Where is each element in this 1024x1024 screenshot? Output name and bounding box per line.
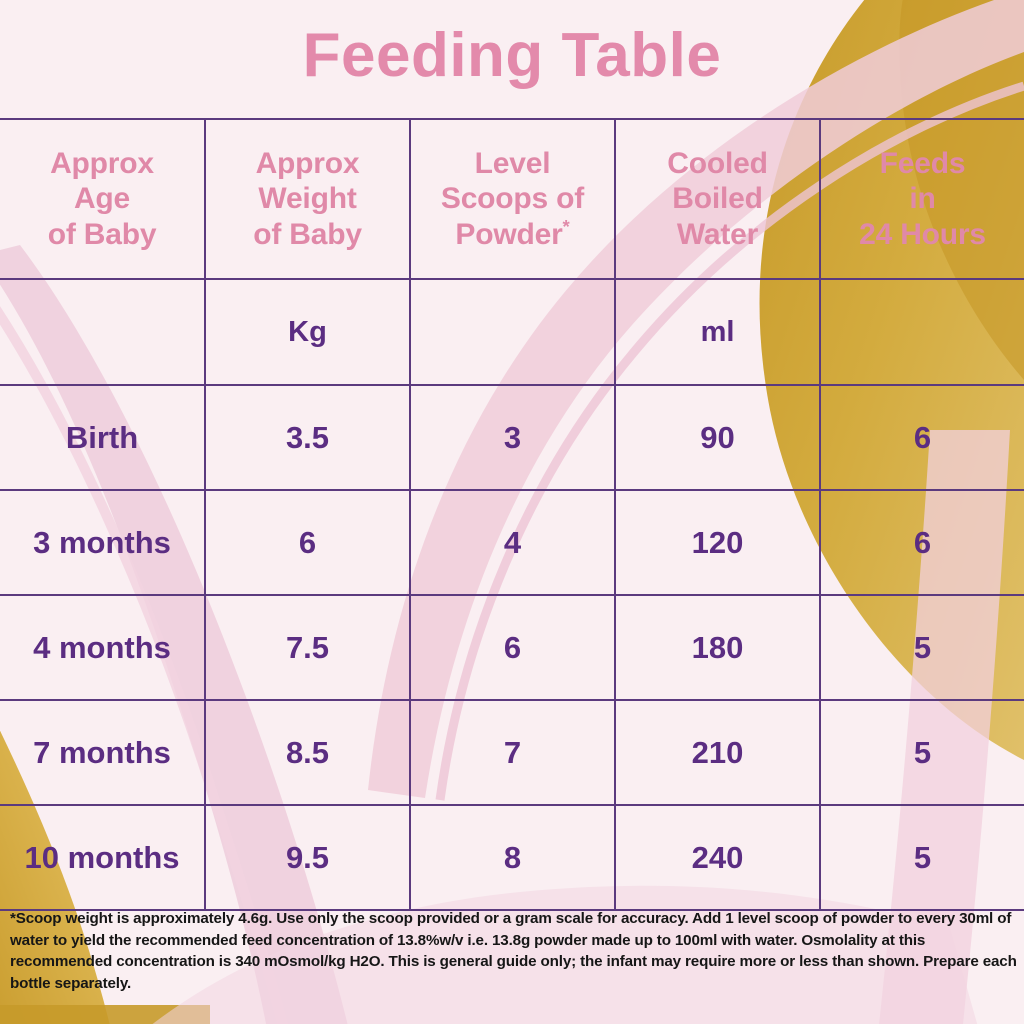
cell-water: 90 bbox=[615, 385, 820, 490]
cell-feeds: 5 bbox=[820, 805, 1024, 910]
unit-cell-scoops bbox=[410, 279, 615, 385]
table-row: 4 months 7.5 6 180 5 bbox=[0, 595, 1024, 700]
cell-age: Birth bbox=[0, 385, 205, 490]
feeding-table: Approx Age of Baby Approx Weight of Baby… bbox=[0, 118, 1024, 911]
column-header-age: Approx Age of Baby bbox=[0, 119, 205, 279]
table-row: 3 months 6 4 120 6 bbox=[0, 490, 1024, 595]
column-header-scoops: Level Scoops of Powder* bbox=[410, 119, 615, 279]
header-line: Approx bbox=[0, 146, 204, 181]
header-line-text: Powder bbox=[455, 218, 562, 251]
page-title: Feeding Table bbox=[0, 20, 1024, 91]
unit-cell-age bbox=[0, 279, 205, 385]
cell-scoops: 3 bbox=[410, 385, 615, 490]
cell-age: 4 months bbox=[0, 595, 205, 700]
header-line: Level bbox=[411, 146, 614, 181]
header-line: of Baby bbox=[0, 217, 204, 252]
cell-scoops: 4 bbox=[410, 490, 615, 595]
cell-scoops: 7 bbox=[410, 700, 615, 805]
header-line: Powder* bbox=[411, 217, 614, 252]
gold-bottom-strip bbox=[0, 1005, 210, 1024]
feeding-table-container: Approx Age of Baby Approx Weight of Baby… bbox=[0, 118, 1024, 902]
header-line: 24 Hours bbox=[821, 217, 1024, 252]
cell-weight: 6 bbox=[205, 490, 410, 595]
table-row: Birth 3.5 3 90 6 bbox=[0, 385, 1024, 490]
table-row: 7 months 8.5 7 210 5 bbox=[0, 700, 1024, 805]
cell-feeds: 5 bbox=[820, 700, 1024, 805]
table-header: Approx Age of Baby Approx Weight of Baby… bbox=[0, 119, 1024, 279]
cell-weight: 3.5 bbox=[205, 385, 410, 490]
header-line: of Baby bbox=[206, 217, 409, 252]
header-line: Water bbox=[616, 217, 819, 252]
table-header-row: Approx Age of Baby Approx Weight of Baby… bbox=[0, 119, 1024, 279]
table-body: Kg ml Birth 3.5 3 90 6 3 months 6 4 120 bbox=[0, 279, 1024, 910]
cell-water: 210 bbox=[615, 700, 820, 805]
feeding-table-page: Feeding Table Approx Age of Baby Approx … bbox=[0, 0, 1024, 1024]
column-header-weight: Approx Weight of Baby bbox=[205, 119, 410, 279]
column-header-feeds: Feeds in 24 Hours bbox=[820, 119, 1024, 279]
header-line: Scoops of bbox=[411, 181, 614, 216]
cell-age: 7 months bbox=[0, 700, 205, 805]
header-line: Boiled bbox=[616, 181, 819, 216]
cell-water: 180 bbox=[615, 595, 820, 700]
cell-age: 3 months bbox=[0, 490, 205, 595]
cell-water: 120 bbox=[615, 490, 820, 595]
header-line: Approx bbox=[206, 146, 409, 181]
units-row: Kg ml bbox=[0, 279, 1024, 385]
header-line: Cooled bbox=[616, 146, 819, 181]
cell-feeds: 5 bbox=[820, 595, 1024, 700]
header-line: Feeds bbox=[821, 146, 1024, 181]
footnote-text: *Scoop weight is approximately 4.6g. Use… bbox=[10, 908, 1018, 994]
cell-feeds: 6 bbox=[820, 490, 1024, 595]
unit-cell-weight: Kg bbox=[205, 279, 410, 385]
footnote-marker: * bbox=[563, 216, 570, 237]
header-line: Weight bbox=[206, 181, 409, 216]
cell-weight: 7.5 bbox=[205, 595, 410, 700]
cell-scoops: 6 bbox=[410, 595, 615, 700]
column-header-water: Cooled Boiled Water bbox=[615, 119, 820, 279]
cell-water: 240 bbox=[615, 805, 820, 910]
cell-weight: 9.5 bbox=[205, 805, 410, 910]
cell-feeds: 6 bbox=[820, 385, 1024, 490]
cell-scoops: 8 bbox=[410, 805, 615, 910]
header-line: Age bbox=[0, 181, 204, 216]
unit-cell-water: ml bbox=[615, 279, 820, 385]
header-line: in bbox=[821, 181, 1024, 216]
table-row: 10 months 9.5 8 240 5 bbox=[0, 805, 1024, 910]
cell-age: 10 months bbox=[0, 805, 205, 910]
unit-cell-feeds bbox=[820, 279, 1024, 385]
cell-weight: 8.5 bbox=[205, 700, 410, 805]
